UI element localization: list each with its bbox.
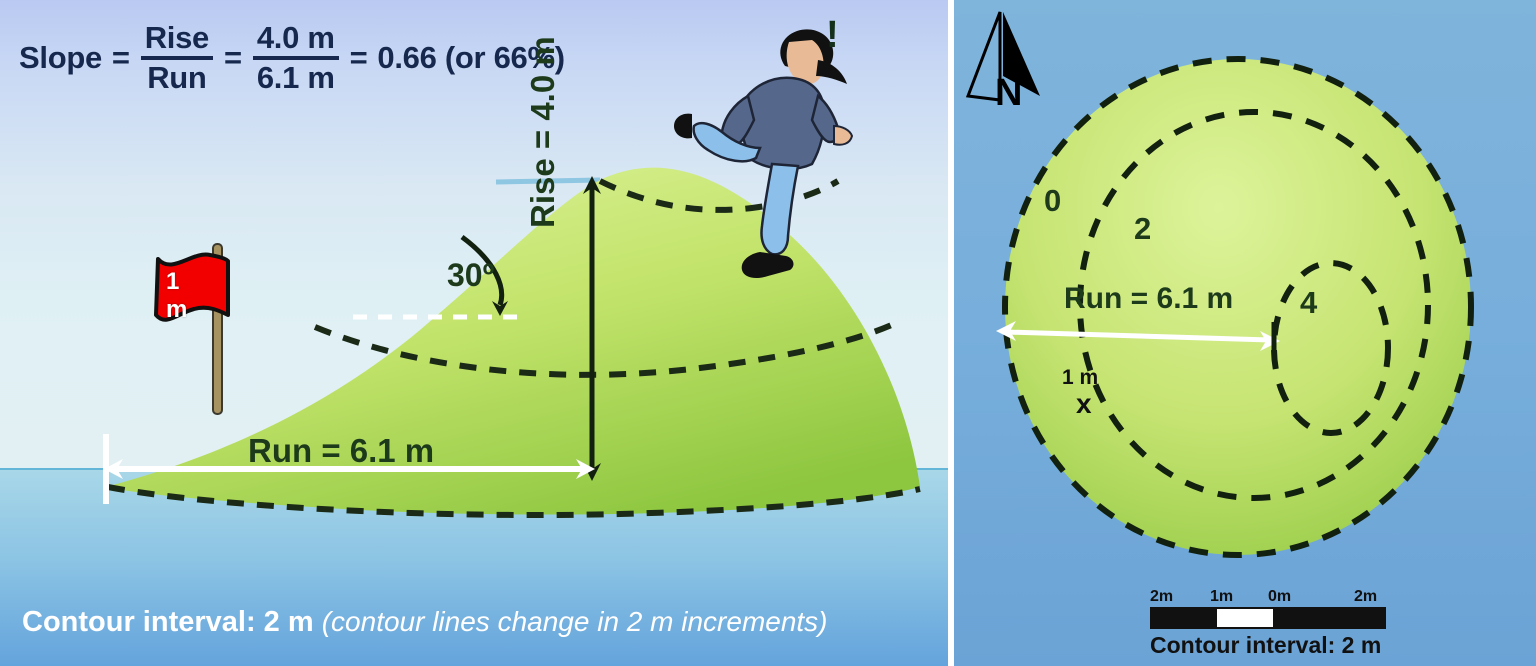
- hill-profile-graphic: [0, 0, 948, 666]
- formula-equals-1: =: [112, 40, 130, 76]
- hiker-shoe-back: [674, 114, 692, 139]
- map-contour-label-0: 0: [1044, 183, 1061, 219]
- formula-equals-3: =: [350, 40, 368, 76]
- exclamation-mark: !: [826, 14, 839, 57]
- map-contour-label-4: 4: [1300, 285, 1317, 321]
- formula-equals-2: =: [224, 40, 242, 76]
- plan-view-panel: N 0 2 4 Run = 6.1 m 1 m x 2m 1m 0m 2m Co…: [954, 0, 1536, 666]
- map-scale-bar: 2m 1m 0m 2m Contour interval: 2 m: [1150, 588, 1400, 659]
- slope-formula: Slope = Rise Run = 4.0 m 6.1 m = 0.66 (o…: [14, 22, 570, 95]
- scale-tick-1: 1m: [1210, 588, 1233, 606]
- spot-elevation-marker-icon: x: [1076, 388, 1092, 420]
- contour-map-graphic: [954, 0, 1536, 666]
- spot-elevation-label: 1 m: [1062, 366, 1098, 390]
- map-contour-label-2: 2: [1134, 211, 1151, 247]
- flag-elevation-label: 1 m: [166, 268, 187, 324]
- caption-bold-text: Contour interval: 2 m: [22, 606, 314, 638]
- run-dimension-label: Run = 6.1 m: [248, 432, 434, 470]
- formula-run-word: Run: [147, 60, 206, 95]
- formula-rise-word: Rise: [141, 22, 213, 60]
- scale-seg-3: [1273, 609, 1384, 627]
- map-contour-interval-caption: Contour interval: 2 m: [1150, 632, 1400, 659]
- north-label: N: [995, 72, 1022, 115]
- scale-tick-0: 2m: [1150, 588, 1173, 606]
- formula-run-value: 6.1 m: [257, 60, 335, 95]
- hill-body: [105, 168, 920, 515]
- slope-contour-figure: Slope = Rise Run = 4.0 m 6.1 m = 0.66 (o…: [0, 0, 1536, 666]
- caption-italic-text: (contour lines change in 2 m increments): [322, 606, 828, 637]
- scale-seg-2: [1217, 609, 1273, 627]
- scale-bar-ticks: 2m 1m 0m 2m: [1150, 588, 1400, 607]
- slope-angle-label: 30º: [447, 257, 494, 294]
- profile-view-panel: Slope = Rise Run = 4.0 m 6.1 m = 0.66 (o…: [0, 0, 948, 666]
- formula-fraction-values: 4.0 m 6.1 m: [253, 22, 339, 95]
- hiker-hair-back: [816, 60, 847, 84]
- formula-slope-word: Slope: [19, 40, 102, 76]
- formula-fraction-words: Rise Run: [141, 22, 213, 95]
- scale-tick-3: 2m: [1354, 588, 1377, 606]
- contour-interval-caption: Contour interval: 2 m (contour lines cha…: [22, 606, 828, 639]
- hiker-hand: [834, 126, 852, 145]
- map-run-label: Run = 6.1 m: [1064, 282, 1233, 316]
- formula-rise-value: 4.0 m: [253, 22, 339, 60]
- scale-tick-2: 0m: [1268, 588, 1291, 606]
- scale-bar-graphic: [1150, 607, 1386, 629]
- rise-dimension-label: Rise = 4.0 m: [524, 36, 562, 228]
- scale-seg-1: [1152, 609, 1217, 627]
